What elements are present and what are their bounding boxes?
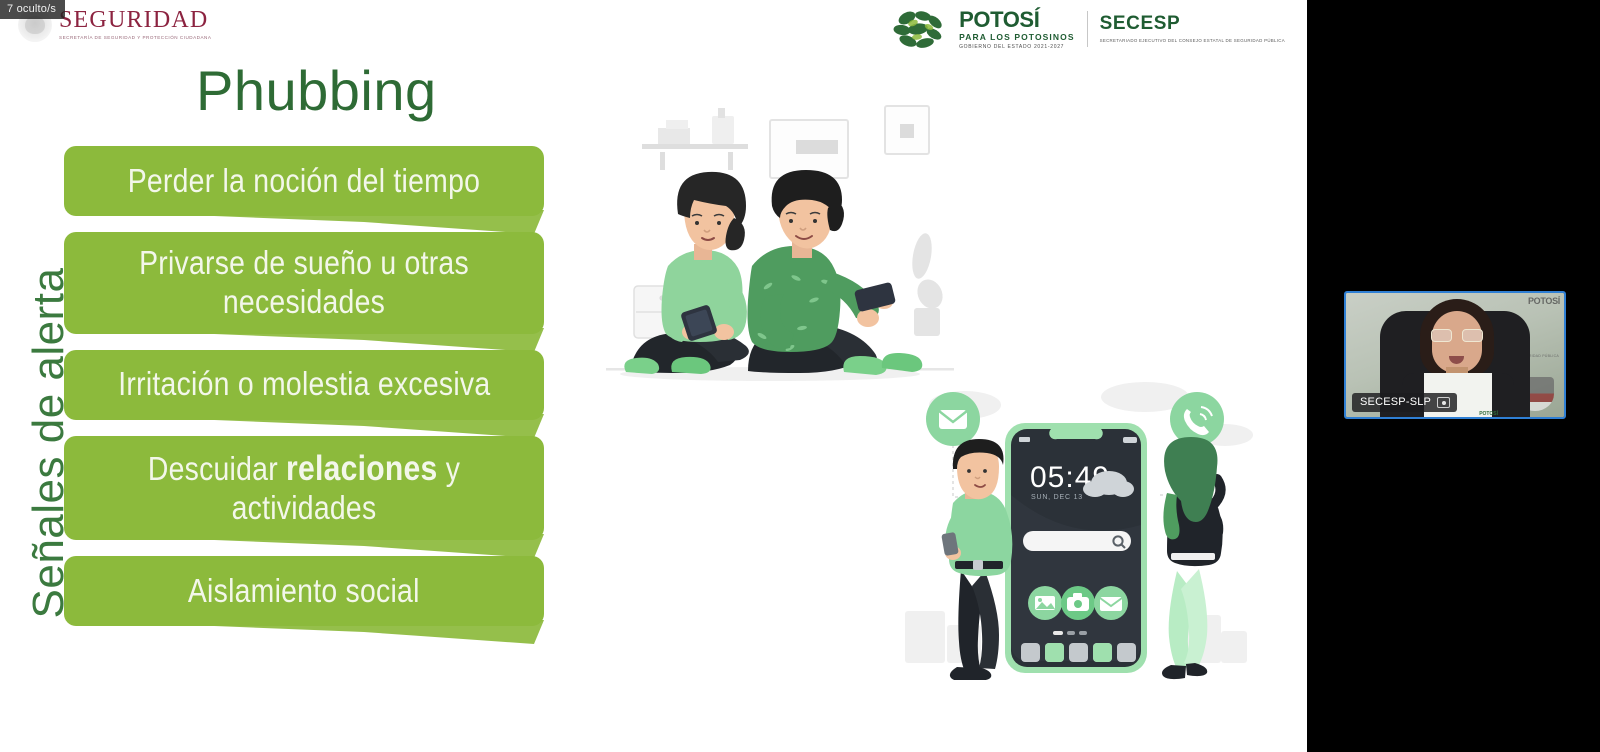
message-icon — [1094, 586, 1128, 620]
alert-sign-banner: Privarse de sueño u otras necesidades — [64, 232, 544, 334]
giant-smartphone-with-two-people-illustration: 05:49 SUN, DEC 13 — [895, 375, 1255, 680]
meeting-screen: SEGURIDAD SECRETARÍA DE SEGURIDAD Y PROT… — [0, 0, 1600, 752]
alert-sign-banner: Perder la noción del tiempo — [64, 146, 544, 216]
alert-sign-banner: Descuidar relaciones y actividades — [64, 436, 544, 540]
seguridad-logo-title: SEGURIDAD — [59, 8, 211, 32]
alert-sign-banner: Aislamiento social — [64, 556, 544, 626]
participant-video-tile[interactable]: POTOSÍ SECESP SECRETARIADO EJECUTIVO DEL… — [1344, 291, 1566, 419]
logo-divider — [1087, 11, 1088, 47]
potosi-logo-title: POTOSÍ — [959, 9, 1075, 31]
phone-screen-date: SUN, DEC 13 — [1031, 494, 1083, 501]
alert-sign-text: Descuidar relaciones y actividades — [113, 448, 495, 528]
uniform-badge-logo: POTOSÍ — [1479, 412, 1498, 418]
potosi-logo-footnote: GOBIERNO DEL ESTADO 2021-2027 — [959, 45, 1075, 50]
seguridad-logo-subtitle: SECRETARÍA DE SEGURIDAD Y PROTECCIÓN CIU… — [59, 35, 211, 42]
secesp-logo-subtitle: SECRETARIADO EJECUTIVO DEL CONSEJO ESTAT… — [1100, 37, 1285, 44]
mail-icon — [926, 392, 980, 446]
participant-name-text: SECESP-SLP — [1360, 396, 1431, 408]
alert-sign-text: Perder la noción del tiempo — [128, 162, 480, 201]
alert-signs-list: Perder la noción del tiempo Privarse de … — [64, 146, 544, 642]
list-item: Privarse de sueño u otras necesidades — [64, 232, 544, 334]
list-item: Descuidar relaciones y actividades — [64, 436, 544, 540]
potosi-leaf-mark-icon — [893, 9, 947, 49]
video-pin-icon[interactable] — [1437, 397, 1450, 408]
alert-sign-banner: Irritación o molestia excesiva — [64, 350, 544, 420]
shared-slide: SEGURIDAD SECRETARÍA DE SEGURIDAD Y PROT… — [0, 0, 1307, 752]
potosi-logo-subtitle: PARA LOS POTOSINOS — [959, 33, 1075, 42]
list-item: Perder la noción del tiempo — [64, 146, 544, 216]
gallery-icon — [1028, 586, 1062, 620]
couple-sitting-back-to-back-with-phones-illustration — [600, 96, 960, 396]
secesp-logo-title: SECESP — [1100, 14, 1285, 33]
list-item: Aislamiento social — [64, 556, 544, 626]
search-icon — [1023, 531, 1131, 551]
alert-sign-text: Irritación o molestia excesiva — [118, 365, 490, 404]
list-item: Irritación o molestia excesiva — [64, 350, 544, 420]
eyeglasses-icon — [1431, 329, 1483, 342]
camera-icon — [1061, 586, 1095, 620]
alert-sign-text: Aislamiento social — [188, 572, 420, 611]
backdrop-potosi-logo: POTOSÍ — [1528, 297, 1560, 307]
participant-name-label: SECESP-SLP — [1352, 393, 1457, 412]
alert-sign-text: Privarse de sueño u otras necesidades — [113, 244, 495, 322]
page-title: Phubbing — [196, 58, 437, 123]
government-logos: POTOSÍ PARA LOS POTOSINOS GOBIERNO DEL E… — [893, 9, 1285, 50]
hidden-participants-badge: 7 oculto/s — [0, 0, 65, 19]
